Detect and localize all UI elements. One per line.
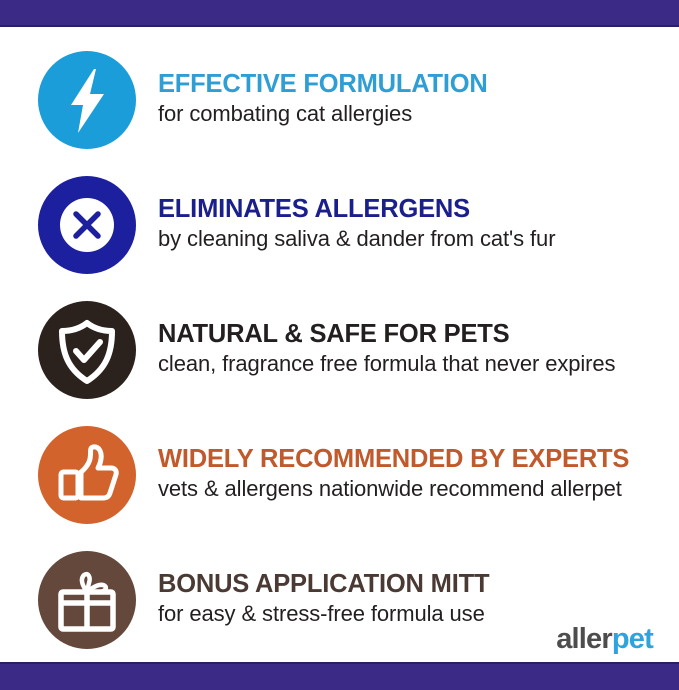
- allerpet-feature-poster: EFFECTIVE FORMULATION for combating cat …: [0, 0, 679, 679]
- logo-text-pet: pet: [612, 623, 653, 655]
- shield-check-icon: [38, 301, 136, 399]
- feature-subtitle: clean, fragrance free formula that never…: [158, 351, 679, 377]
- logo-text-aller: aller: [556, 623, 612, 655]
- feature-subtitle: vets & allergens nationwide recommend al…: [158, 476, 679, 502]
- x-circle-icon: [38, 176, 136, 274]
- feature-row-natural-safe: NATURAL & SAFE FOR PETS clean, fragrance…: [0, 287, 679, 412]
- top-brand-bar: [0, 0, 679, 27]
- feature-title: NATURAL & SAFE FOR PETS: [158, 320, 679, 349]
- bottom-brand-bar: [0, 662, 679, 690]
- lightning-bolt-icon: [38, 51, 136, 149]
- feature-title: ELIMINATES ALLERGENS: [158, 195, 679, 224]
- feature-text-block: WIDELY RECOMMENDED BY EXPERTS vets & all…: [136, 445, 679, 504]
- feature-text-block: ELIMINATES ALLERGENS by cleaning saliva …: [136, 195, 679, 254]
- thumbs-up-icon: [38, 426, 136, 524]
- feature-row-widely-recommended: WIDELY RECOMMENDED BY EXPERTS vets & all…: [0, 412, 679, 537]
- feature-title: EFFECTIVE FORMULATION: [158, 70, 679, 99]
- feature-subtitle: for combating cat allergies: [158, 101, 679, 127]
- feature-row-eliminates-allergens: ELIMINATES ALLERGENS by cleaning saliva …: [0, 162, 679, 287]
- allerpet-logo: allerpet: [556, 625, 653, 654]
- feature-row-effective-formulation: EFFECTIVE FORMULATION for combating cat …: [0, 37, 679, 162]
- feature-text-block: EFFECTIVE FORMULATION for combating cat …: [136, 70, 679, 129]
- feature-title: BONUS APPLICATION MITT: [158, 570, 679, 599]
- feature-text-block: BONUS APPLICATION MITT for easy & stress…: [136, 570, 679, 629]
- gift-box-icon: [38, 551, 136, 649]
- feature-subtitle: by cleaning saliva & dander from cat's f…: [158, 226, 679, 252]
- feature-text-block: NATURAL & SAFE FOR PETS clean, fragrance…: [136, 320, 679, 379]
- feature-list: EFFECTIVE FORMULATION for combating cat …: [0, 27, 679, 662]
- feature-title: WIDELY RECOMMENDED BY EXPERTS: [158, 445, 679, 474]
